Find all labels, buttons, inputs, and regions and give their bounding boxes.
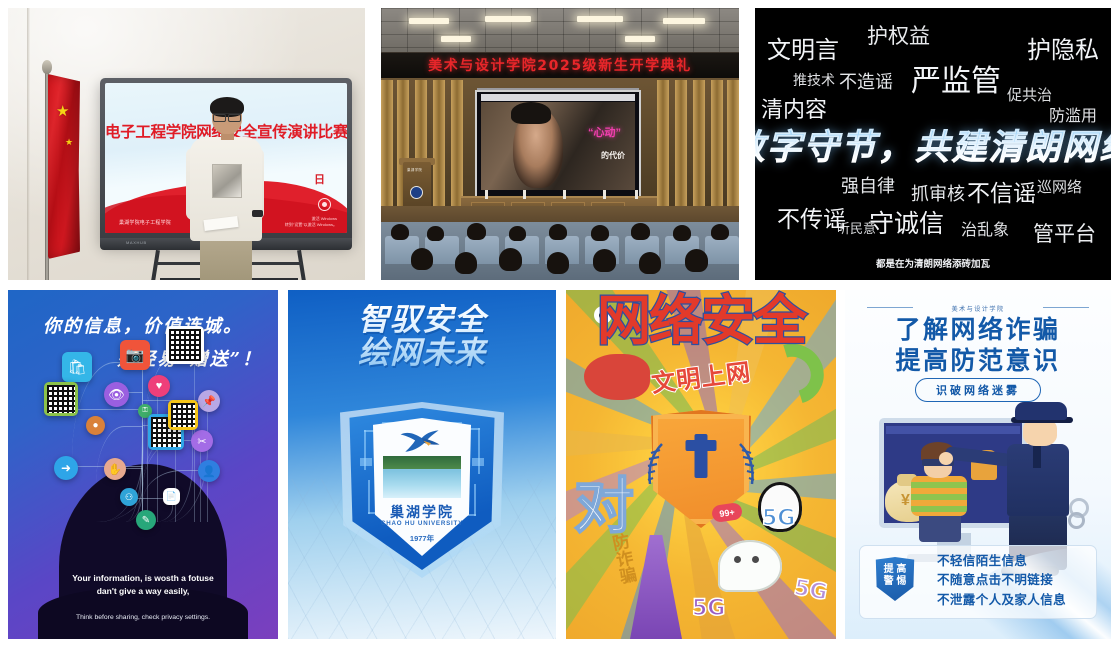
fraud-prevention-tip: 不随意点击不明链接 [937,570,1066,589]
dais-microphone [485,190,488,199]
laurel-leaf-right-icon [734,442,760,486]
display-brand-label: MAXHUB [126,240,147,245]
ceiling-light [409,18,449,24]
decorative-character: 对 [574,480,634,534]
word-cloud-term: 抓审核 [911,180,965,206]
money-symbol: ¥ [901,492,910,510]
dais-microphone [523,190,526,199]
fraud-title-line-2: 提高防范意识 [845,345,1111,376]
emblem-name-en: CHAO HU UNIVERSITY [288,520,556,527]
screen-footer: 巢湖学院电子工程学院 [119,219,171,226]
fraud-poster-pill: 识破网络迷雾 [915,378,1041,402]
drawing-key-cross [695,434,708,478]
stage-curtain [727,80,739,208]
speaker-person [186,100,264,280]
word-cloud-term: 不造谣 [839,68,893,94]
dais-microphone [563,190,566,199]
ceremony-banner-text: 美术与设计学院2025级新生开学典礼 [381,55,739,75]
fish-drawing [584,354,650,400]
dais-microphone [635,190,638,199]
speaker-watch [252,210,263,217]
dais-microphone [603,190,606,199]
video-face-hair-bun [511,102,551,124]
qr-code-pattern [47,385,75,413]
hand-icon: ✋ [104,458,126,480]
stage-curtain [433,80,445,208]
five-g-label: 5G [762,506,795,531]
poster-personal-information-privacy[interactable]: 你的信息，价值连城。 别轻易“赠送”！ 🛍📷♥👁⚿📌●➜✂✋👤⚇✎📄 Your … [8,290,278,639]
audience-head [391,224,409,240]
ceiling-grid [381,8,739,54]
eye-icon: 👁 [104,382,129,407]
poster-chaohu-university-cyber-shield[interactable]: 智驭安全 绘网未来 巢湖学院 CHAO HU UNIVERSI [288,290,556,639]
anti-fraud-label: 防诈骗 [581,532,642,616]
image-clean-network-word-cloud[interactable]: 文明言护权益护隐私推技术不造谣严监管促共治清内容防滥用强自律抓审核不信谣巡网络不… [755,8,1111,280]
department-label: 美术与设计学院 [845,304,1111,313]
ceiling-light [441,36,471,42]
flag-star-large-icon: ★ [56,104,69,119]
audience-head [593,249,616,272]
wechat-eye [734,556,741,563]
audience-head [411,248,433,270]
audience-head [549,224,567,240]
fraud-prevention-tips: 不轻信陌生信息不随意点击不明链接不泄露个人及家人信息 [937,551,1066,609]
speaker-glasses-icon [213,113,241,120]
shield-title-line-1: 智驭安全 [288,304,556,337]
projector-screen-toolbar [481,94,635,101]
wall-seam [27,8,30,280]
projector-screen-content: “心动” 的代价 [481,102,635,190]
audience-head [685,249,708,272]
cursor-icon: ➜ [54,456,78,480]
qr-code-icon [166,326,204,364]
fraud-title-line-1: 了解网络诈骗 [845,314,1111,345]
word-cloud-term: 推技术 [793,70,835,90]
ceiling-light [485,16,531,22]
fraudster-legs [919,512,961,542]
audience-head [509,226,526,241]
speaker-tshirt-print [212,164,242,198]
camera-icon: 📷 [120,340,150,370]
wechat-bubble-icon [718,540,782,592]
stage-curtain [675,80,687,208]
photo-opening-ceremony[interactable]: 美术与设计学院2025级新生开学典礼 “心动” 的代价 [381,8,739,280]
audience-head [711,224,729,240]
privacy-english-line-1: Your information, is wosth a fotuse [8,572,278,584]
campus-lake-illustration [383,456,461,498]
podium-label: 巢湖学院 [407,168,422,173]
cookie-icon: ● [86,416,105,435]
flag-star-small-icon: ★ [65,138,73,147]
word-cloud-term: 文明言 [767,30,839,65]
alert-badge-text: 提 高 警 惕 [884,564,907,586]
qr-code-pattern [171,403,195,427]
privacy-english-line-2: dan't give a way easily, [8,585,278,597]
fraud-poster-title: 了解网络诈骗 提高防范意识 [845,314,1111,376]
ceiling-light [577,16,623,22]
officer-hand [939,452,953,465]
stage-curtain [657,80,669,208]
windows-watermark: 激活 Windows 转到"设置"以激活 Windows。 [285,216,337,228]
officer-cap [1015,402,1067,420]
photo-speech-contest[interactable]: ★ ★ 电子工程学院网络安全宣传演讲比赛 日 巢湖学院电子工程学院 激活 Win… [8,8,365,280]
privacy-title-line-1: 你的信息，价值连城。 [8,312,278,338]
podium-emblem-icon [410,186,423,199]
fraud-prevention-tip: 不泄露个人及家人信息 [937,590,1066,609]
screen-seal-icon [318,198,331,211]
audience-head [427,226,444,241]
audience-head [591,225,609,241]
stage-curtain [693,80,705,208]
officer-tie [1033,446,1041,468]
flag-pole-knob [42,60,52,74]
audience-seat [705,236,739,264]
privacy-english-subcaption: Think before sharing, check privacy sett… [8,614,278,621]
stage-curtain [711,80,723,208]
pen-icon: ✎ [136,510,156,530]
scissors-icon: ✂ [191,430,213,452]
audience-head [673,225,691,241]
speaker-trousers [200,236,252,280]
stage-curtain [451,80,463,208]
ceiling-light [663,18,705,24]
five-g-label: 5G [692,596,725,621]
pin-icon: 📌 [198,390,220,412]
word-cloud-term: 护隐私 [1027,30,1099,65]
laurel-leaf-left-icon [642,442,668,486]
word-cloud-term: 管平台 [1033,218,1096,248]
word-cloud-term: 强自律 [841,172,895,198]
fraudster-torso [911,476,967,516]
privacy-english-caption: Your information, is wosth a fotuse dan'… [8,572,278,597]
notification-badge: 99+ [711,502,743,523]
audience-area [381,222,739,280]
qr-code-icon [168,400,198,430]
word-cloud-footer: 都是在为清朗网络添砖加瓦 [755,256,1111,270]
emblem-founding-year: 1977年 [288,533,556,544]
audience-head [455,252,477,274]
china-flag [48,74,80,259]
word-cloud-term: 不信谣 [967,174,1036,208]
wechat-eye [752,556,759,563]
word-cloud-term: 不传谣 [777,200,846,234]
shield-poster-title: 智驭安全 绘网未来 [288,304,556,371]
word-cloud-main-slogan: 数字守节，共建清朗网络 [755,119,1111,170]
audience-head [631,223,650,240]
qr-code-icon [44,382,78,416]
heart-icon: ♥ [148,375,170,397]
share-icon: ⚇ [120,488,138,506]
fraud-prevention-tip: 不轻信陌生信息 [937,551,1066,570]
drawing-title: 网络安全 [566,294,836,348]
poster-anti-telecom-fraud[interactable]: 美术与设计学院 了解网络诈骗 提高防范意识 识破网络迷雾 ¥ [845,290,1111,639]
word-cloud-term: 巡网络 [1037,176,1082,197]
word-cloud-term: 促共治 [1007,84,1052,105]
shopping-bag-icon: 🛍 [62,352,92,382]
video-caption-primary: “心动” [588,124,621,140]
ceiling-light [625,36,655,42]
word-cloud-term: 治乱象 [961,216,1009,240]
audience-head [467,223,486,240]
shield-title-line-2: 绘网未来 [288,337,556,370]
photo-gallery: ★ ★ 电子工程学院网络安全宣传演讲比赛 日 巢湖学院电子工程学院 激活 Win… [0,0,1119,647]
lake-treeline [383,456,461,469]
stage-curtain [381,80,393,208]
audience-head [547,252,569,274]
word-cloud-term: 严监管 [911,56,1001,100]
file-icon: 📄 [163,488,180,505]
video-caption-secondary: 的代价 [601,150,625,161]
audience-head [499,248,522,271]
handcuffs-icon-2 [1068,512,1085,529]
word-cloud-term: 护权益 [867,20,930,50]
user-icon: 👤 [198,460,220,482]
word-cloud-term: 守诚信 [869,204,944,240]
poster-hand-drawn-cyber-safety[interactable]: 对 防诈骗 网络安全 文明上网 99+ 5G 5G 5G [566,290,836,639]
emblem-name-cn: 巢湖学院 [288,502,556,522]
audience-head [639,252,661,274]
screen-subtitle: 日 [314,171,325,187]
qr-code-pattern [169,329,201,361]
